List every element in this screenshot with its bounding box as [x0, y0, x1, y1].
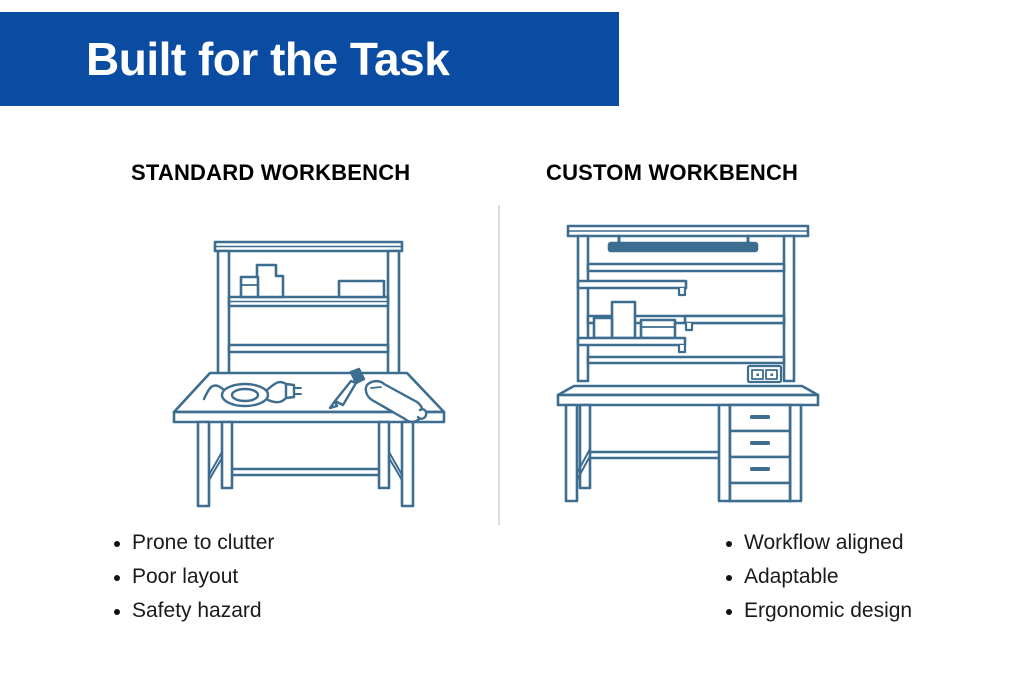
canopy-top	[568, 226, 808, 236]
drawer-pedestal-base	[730, 483, 790, 501]
overhead-light-bar	[609, 236, 757, 251]
list-item: Safety hazard	[132, 594, 274, 628]
column-divider	[498, 205, 500, 525]
list-item: Workflow aligned	[744, 526, 912, 560]
standard-workbench-svg	[168, 228, 458, 518]
hutch-lower-rail	[229, 345, 388, 352]
drawer-3[interactable]	[730, 457, 790, 483]
column-heading-standard: STANDARD WORKBENCH	[131, 160, 410, 186]
shelf-box-flat	[339, 281, 384, 297]
standard-workbench-illustration	[168, 228, 458, 518]
bullet-list-custom: Workflow aligned Adaptable Ergonomic des…	[722, 526, 912, 628]
worktop	[558, 386, 818, 405]
hutch-left-upright	[218, 251, 229, 378]
list-item: Prone to clutter	[132, 526, 274, 560]
hutch-top-shelf	[215, 242, 402, 251]
bullet-list-standard: Prone to clutter Poor layout Safety haza…	[110, 526, 274, 628]
shelf-box-tall	[612, 302, 635, 338]
custom-workbench-svg	[552, 218, 848, 514]
title-banner: Built for the Task	[0, 12, 619, 106]
page-title: Built for the Task	[86, 36, 449, 82]
back-panel-rail	[588, 357, 784, 363]
drawer-pedestal	[730, 405, 790, 501]
adjustable-shelf-left	[578, 281, 686, 295]
list-item: Adaptable	[744, 560, 912, 594]
list-item: Poor layout	[132, 560, 274, 594]
legs-with-diagonal-brace	[198, 422, 413, 506]
hutch-middle-shelf	[229, 297, 388, 306]
drawer-1[interactable]	[730, 405, 790, 431]
shelf-box-small	[594, 318, 612, 338]
shelf-tray	[641, 320, 675, 338]
custom-workbench-illustration	[552, 218, 848, 514]
adjustable-shelf-right	[685, 316, 784, 330]
shelf-box-tall	[257, 265, 283, 297]
column-heading-custom: CUSTOM WORKBENCH	[546, 160, 798, 186]
drawer-2[interactable]	[730, 431, 790, 457]
list-item: Ergonomic design	[744, 594, 912, 628]
frame-left-upright	[578, 236, 588, 381]
upper-shelf	[588, 264, 784, 271]
frame-right-upright	[784, 236, 794, 381]
lower-shelf	[578, 338, 685, 352]
hutch-right-upright	[388, 251, 399, 378]
power-outlet-double	[748, 366, 781, 382]
slide-root: { "slide": { "title": "Built for the Tas…	[0, 0, 1024, 683]
shelf-box-small	[241, 277, 258, 297]
